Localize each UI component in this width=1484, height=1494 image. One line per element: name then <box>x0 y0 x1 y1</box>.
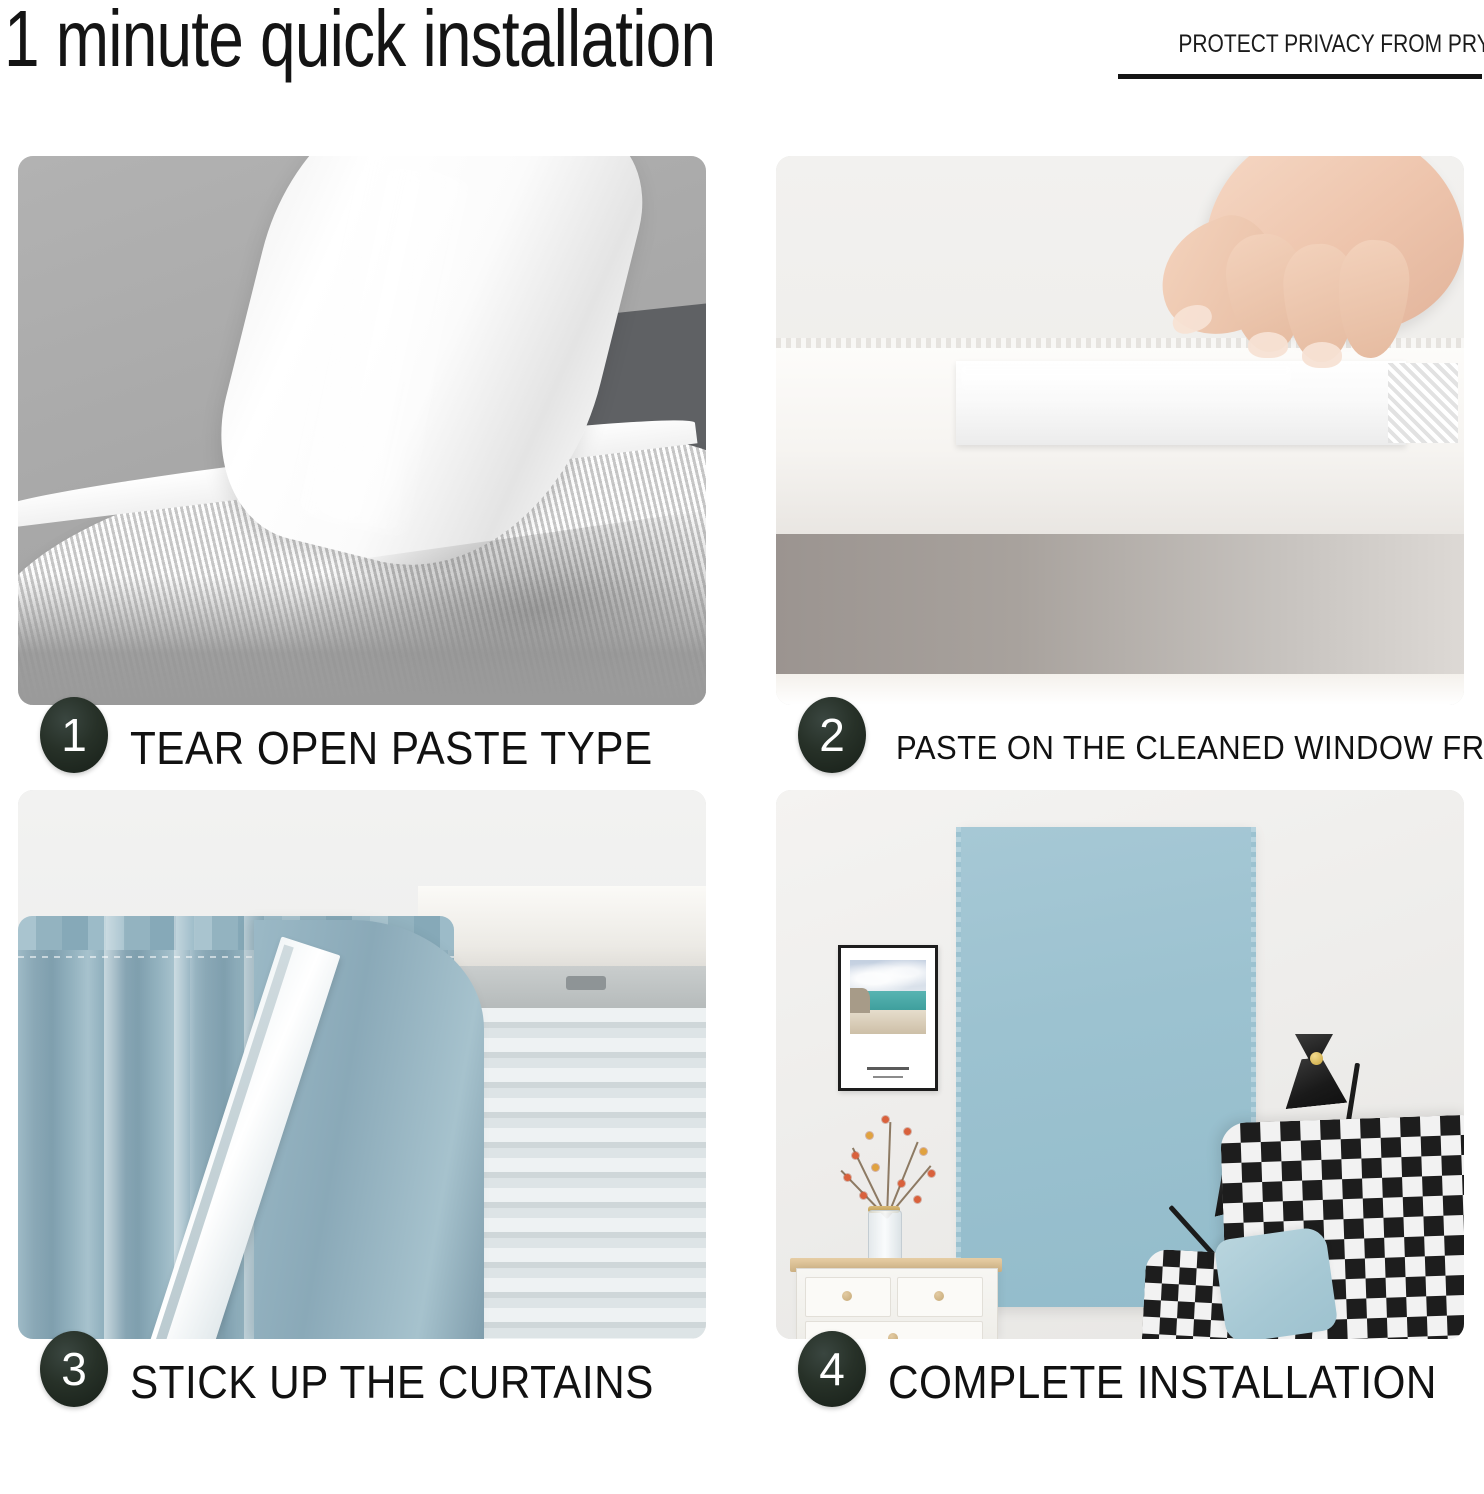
step-card-2: 2 PASTE ON THE CLEANED WINDOW FRAME <box>776 156 1464 790</box>
step-4-caption-row: 4 COMPLETE INSTALLATION <box>776 1339 1464 1424</box>
header-divider-rule <box>1118 74 1482 79</box>
artwork-cliff <box>850 988 870 1013</box>
branch-berry-11 <box>914 1196 921 1203</box>
branch-berry-5 <box>920 1148 927 1155</box>
page-title: 1 minute quick installation <box>4 0 715 82</box>
step-3-photo <box>18 790 706 1339</box>
step-card-1: 1 TEAR OPEN PASTE TYPE <box>18 156 706 790</box>
framed-artwork <box>838 945 938 1091</box>
step-badge-2: 2 <box>798 697 866 773</box>
hand-nail-2 <box>1248 332 1288 358</box>
step-2-caption: PASTE ON THE CLEANED WINDOW FRAME <box>896 729 1484 767</box>
step-card-3: 3 STICK UP THE CURTAINS <box>18 790 706 1424</box>
step-badge-3: 3 <box>40 1331 108 1407</box>
step-1-photo <box>18 156 706 705</box>
blue-throw-pillow <box>1213 1226 1338 1339</box>
branch-berry-3 <box>904 1128 911 1135</box>
step-badge-1: 1 <box>40 697 108 773</box>
curtain-fold-1 <box>104 916 126 1339</box>
artwork-sky <box>850 960 926 991</box>
artwork-beach <box>850 1010 926 1034</box>
lower-wall-floor <box>776 674 1464 705</box>
blind-clip <box>566 976 606 990</box>
step-4-photo <box>776 790 1464 1339</box>
dresser-knob-2 <box>934 1291 944 1301</box>
artwork-signature <box>867 1067 909 1070</box>
branch-berry-1 <box>882 1116 889 1123</box>
header-tagline: PROTECT PRIVACY FROM PRYING EYES <box>1178 30 1484 59</box>
branch-berry-7 <box>928 1170 935 1177</box>
installed-blue-curtain <box>960 827 1252 1307</box>
branch-berry-8 <box>872 1164 879 1171</box>
step-2-photo <box>776 156 1464 705</box>
header: 1 minute quick installation PROTECT PRIV… <box>0 0 1484 150</box>
header-tagline-block: PROTECT PRIVACY FROM PRYING EYES <box>1100 30 1480 59</box>
tape-photo-foot-gradient <box>18 575 706 705</box>
hand-icon <box>1132 156 1462 406</box>
branch-berry-6 <box>844 1174 851 1181</box>
branch-berry-2 <box>866 1132 873 1139</box>
step-3-caption: STICK UP THE CURTAINS <box>130 1355 654 1409</box>
installation-steps-grid: 1 TEAR OPEN PASTE TYPE <box>18 156 1468 1486</box>
white-dresser <box>796 1268 998 1339</box>
gray-wall-band <box>776 534 1464 674</box>
step-2-caption-row: 2 PASTE ON THE CLEANED WINDOW FRAME <box>776 705 1464 790</box>
step-3-caption-row: 3 STICK UP THE CURTAINS <box>18 1339 706 1424</box>
step-1-caption: TEAR OPEN PASTE TYPE <box>130 721 653 775</box>
step-badge-4: 4 <box>798 1331 866 1407</box>
branch-berry-9 <box>898 1180 905 1187</box>
lamp-brass-joint-upper <box>1310 1052 1323 1065</box>
branch-berry-4 <box>852 1152 859 1159</box>
window-valance <box>418 886 706 972</box>
artwork-canvas <box>850 960 926 1034</box>
hand-finger-3 <box>1334 238 1412 361</box>
dried-flower-branches <box>832 1112 942 1216</box>
step-4-caption: COMPLETE INSTALLATION <box>888 1355 1437 1409</box>
hand-nail-3 <box>1302 342 1342 368</box>
artwork-caption-line <box>873 1076 903 1078</box>
step-card-4: 4 COMPLETE INSTALLATION <box>776 790 1464 1424</box>
dresser-knob-1 <box>842 1291 852 1301</box>
branch-berry-10 <box>860 1192 867 1199</box>
step-1-caption-row: 1 TEAR OPEN PASTE TYPE <box>18 705 706 790</box>
